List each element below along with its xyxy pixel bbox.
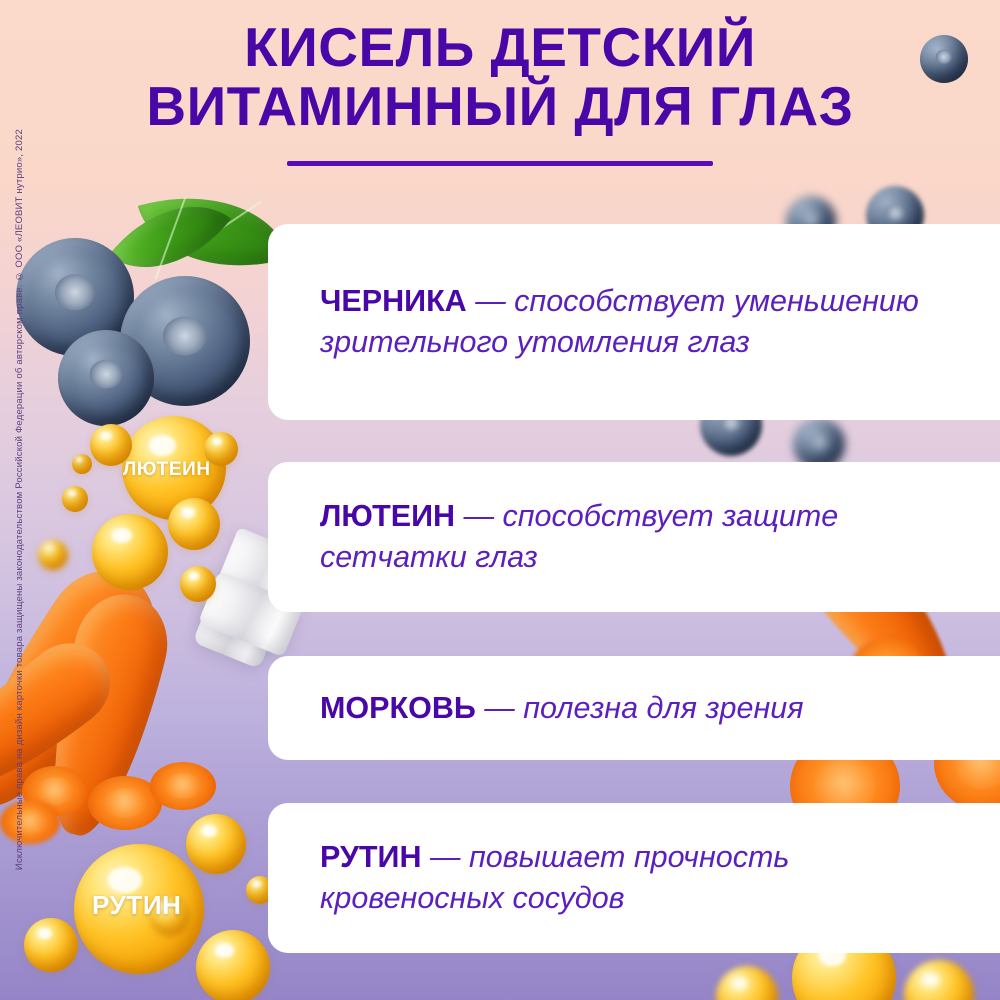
copyright-text: Исключительные права на дизайн карточки …	[14, 129, 25, 870]
carrot-icon	[30, 585, 179, 846]
ingredient-name: МОРКОВЬ	[320, 691, 476, 725]
ingredient-dash: —	[467, 284, 514, 318]
badge-lutein: ЛЮТЕИН	[123, 459, 211, 481]
info-card-text: ЧЕРНИКА — способствует уменьшению зрител…	[268, 281, 1000, 362]
ingredient-name: РУТИН	[320, 840, 422, 874]
info-card-rutin: РУТИН — повышает прочность кровеносных с…	[268, 803, 1000, 953]
info-card-text: МОРКОВЬ — полезна для зрения	[268, 688, 833, 729]
leaf-icon	[109, 173, 231, 301]
page-title: КИСЕЛЬ ДЕТСКИЙ ВИТАМИННЫЙ ДЛЯ ГЛАЗ	[0, 18, 1000, 166]
product-poster: Исключительные права на дизайн карточки …	[0, 0, 1000, 1000]
oil-drop-icon	[62, 486, 88, 512]
ingredient-description: полезна для зрения	[523, 691, 803, 725]
title-line-1: КИСЕЛЬ ДЕТСКИЙ	[0, 18, 1000, 77]
oil-drop-icon	[38, 540, 68, 570]
ingredient-name: ЛЮТЕИН	[320, 499, 455, 533]
ingredient-name: ЧЕРНИКА	[320, 284, 467, 318]
info-card-lutein: ЛЮТЕИН — способствует защите сетчатки гл…	[268, 462, 1000, 612]
oil-drop-icon	[904, 960, 974, 1000]
ingredient-dash: —	[455, 499, 502, 533]
info-card-blueberry: ЧЕРНИКА — способствует уменьшению зрител…	[268, 224, 1000, 420]
carrot-slice-icon	[150, 762, 216, 810]
badge-rutin: РУТИН	[92, 890, 182, 921]
carrot-slice-icon	[88, 776, 162, 830]
blueberry-icon	[120, 276, 250, 406]
oil-drop-icon	[168, 498, 220, 550]
info-card-carrot: МОРКОВЬ — полезна для зрения	[268, 656, 1000, 760]
title-line-2: ВИТАМИННЫЙ ДЛЯ ГЛАЗ	[0, 77, 1000, 136]
oil-drop-icon	[186, 814, 246, 874]
copyright-notice: Исключительные права на дизайн карточки …	[6, 0, 32, 1000]
oil-drop-icon	[72, 454, 92, 474]
ingredient-dash: —	[422, 840, 469, 874]
oil-drop-icon	[180, 566, 216, 602]
oil-drop-icon	[196, 930, 270, 1000]
oil-drop-icon	[716, 966, 778, 1000]
title-divider	[287, 161, 713, 166]
info-card-text: РУТИН — повышает прочность кровеносных с…	[268, 837, 1000, 918]
ingredient-dash: —	[476, 691, 523, 725]
oil-drop-icon	[92, 514, 168, 590]
oil-drop-icon	[24, 918, 78, 972]
info-card-text: ЛЮТЕИН — способствует защите сетчатки гл…	[268, 496, 1000, 577]
blueberry-icon	[58, 330, 154, 426]
blueberry-icon	[16, 238, 134, 356]
